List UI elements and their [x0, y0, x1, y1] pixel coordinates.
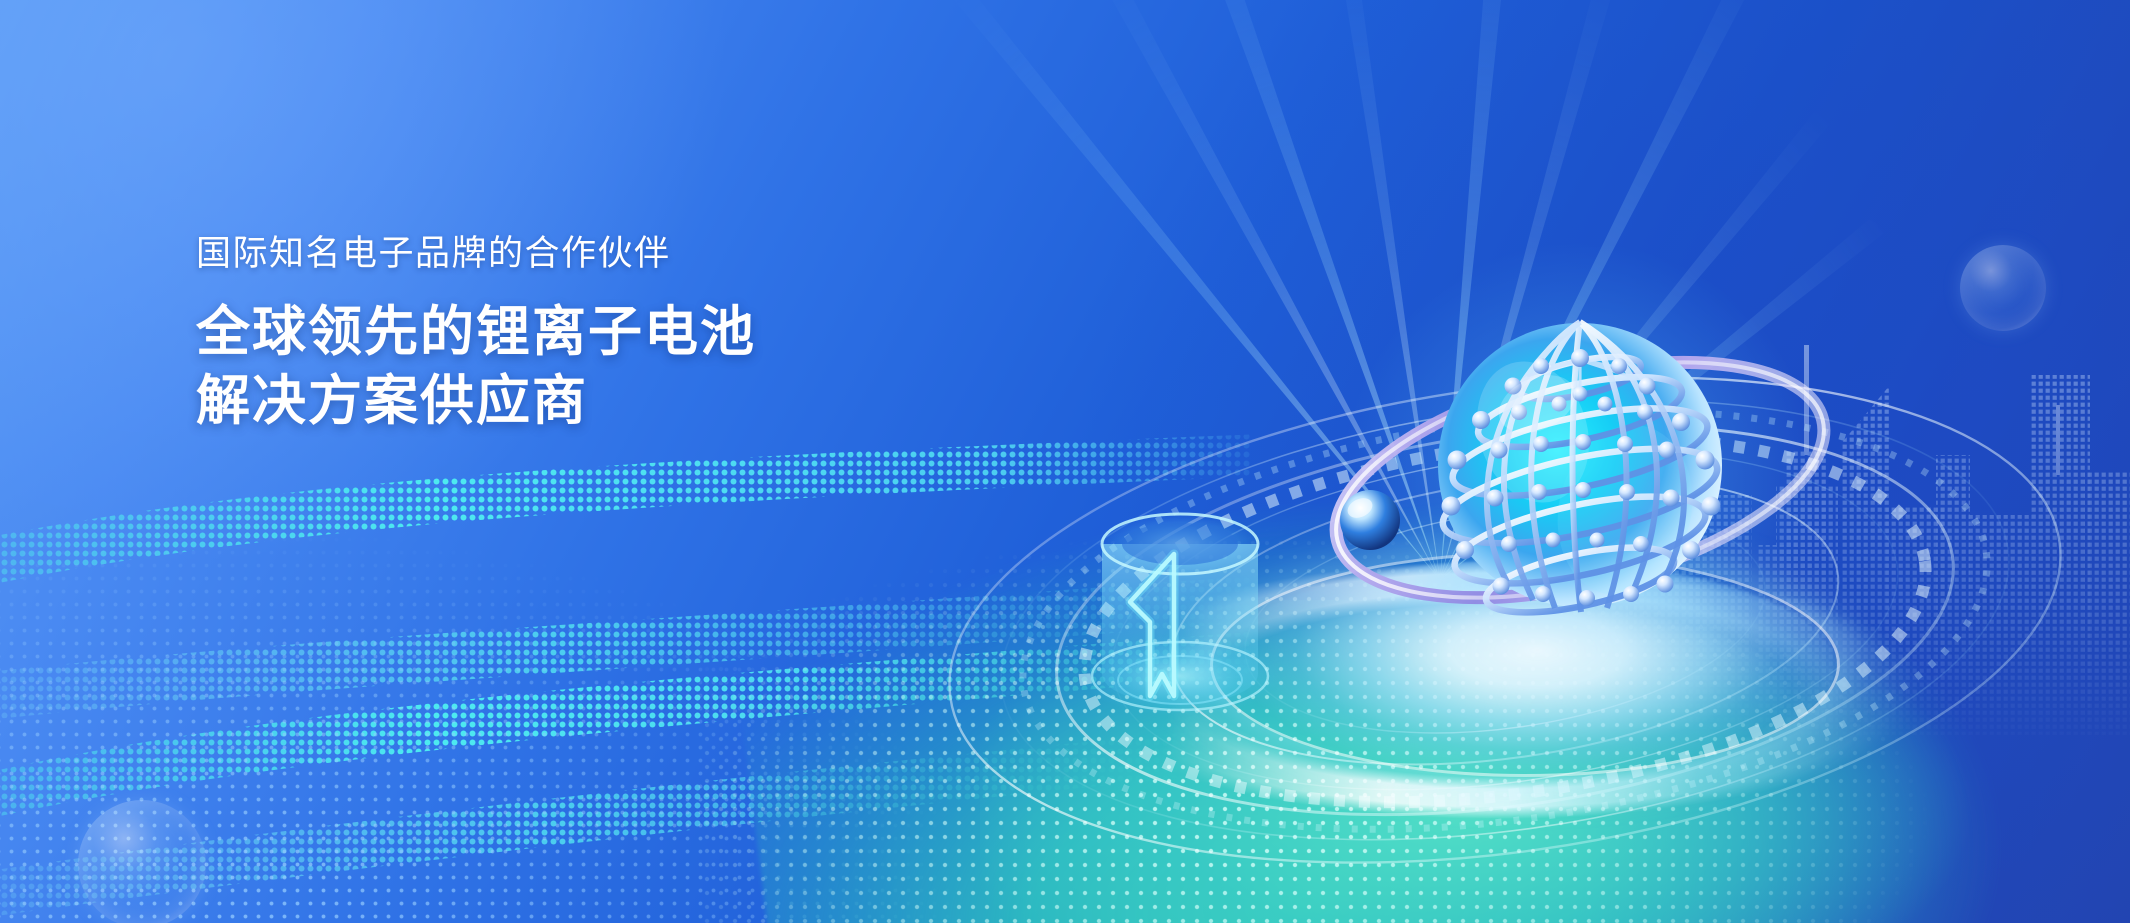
halftone-wave-icon [0, 423, 1250, 923]
concentric-tech-rings-icon [880, 330, 2130, 923]
upward-arrow-portal-icon [1070, 498, 1290, 728]
headline-line-1: 全球领先的锂离子电池 [196, 298, 956, 367]
teal-glow-region [723, 381, 2130, 923]
bubble-sphere-icon [1960, 245, 2046, 331]
platform-light-sweep [1000, 540, 2000, 840]
halftone-dot-field-icon [0, 403, 1240, 923]
bubble-sphere-icon [78, 800, 206, 923]
background-gradient-overlay [0, 0, 2130, 923]
wireframe-globe-icon [1415, 300, 1745, 630]
page-title: 全球领先的锂离子电池 解决方案供应商 [196, 298, 956, 436]
light-rays-icon [880, 0, 2130, 700]
teal-glow-region-inner [980, 600, 2130, 923]
hero-copy: 国际知名电子品牌的合作伙伴 全球领先的锂离子电池 解决方案供应商 [196, 232, 956, 436]
platform-rim [1210, 552, 1840, 777]
orbit-ring-icon [1300, 330, 1860, 630]
globe-glow [1330, 220, 1830, 720]
headline-line-2: 解决方案供应商 [196, 367, 956, 436]
hero-banner: 国际知名电子品牌的合作伙伴 全球领先的锂离子电池 解决方案供应商 [0, 0, 2130, 923]
hero-eyebrow: 国际知名电子品牌的合作伙伴 [196, 232, 956, 276]
glowing-disc-platform-icon [1215, 560, 1835, 775]
halftone-dot-field-teal-icon [700, 480, 2130, 923]
city-skyline-icon [1590, 255, 2130, 735]
